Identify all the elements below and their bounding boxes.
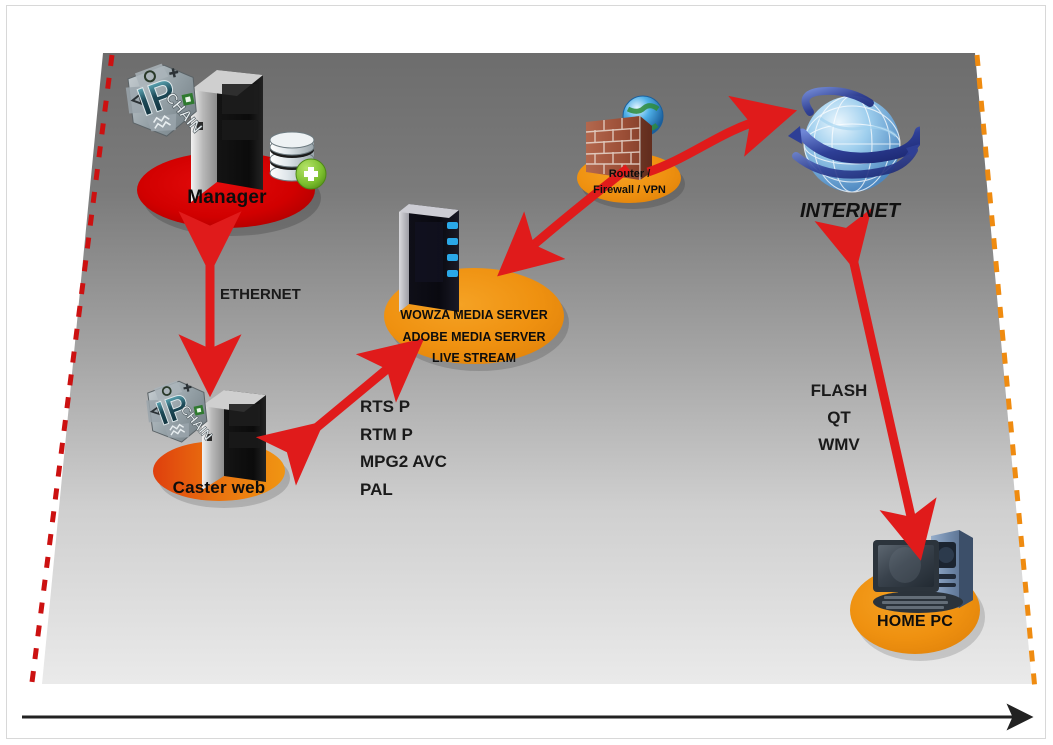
protocol-label-rtsp: RTS P	[360, 393, 447, 421]
format-label-flash: FLASH	[787, 377, 891, 404]
router-label: Router / Firewall / VPN	[577, 167, 682, 198]
router-label-line-2: Firewall / VPN	[577, 183, 682, 199]
connection-arrows-layer	[0, 0, 1053, 745]
protocol-label-mpg2avc: MPG2 AVC	[360, 448, 447, 476]
media-server-label-line-1: WOWZA MEDIA SERVER	[384, 305, 564, 327]
caster-web-label: Caster web	[153, 478, 285, 498]
home-pc-label: HOME PC	[845, 613, 985, 632]
internet-label: INTERNET	[770, 200, 930, 223]
media-server-label-line-3: LIVE STREAM	[384, 348, 564, 370]
router-label-line-1: Router /	[577, 167, 682, 183]
format-label-group: FLASH QT WMV	[787, 377, 891, 459]
format-label-wmv: WMV	[787, 431, 891, 458]
ethernet-label: ETHERNET	[220, 286, 301, 303]
arrow-router-to-internet	[648, 119, 764, 172]
diagram-canvas: IP CHAIN IP CHAIN	[0, 0, 1053, 745]
timeline-arrow	[0, 700, 1053, 745]
protocol-label-pal: PAL	[360, 476, 447, 504]
manager-label: Manager	[137, 187, 317, 209]
media-server-label-line-2: ADOBE MEDIA SERVER	[384, 327, 564, 349]
protocol-label-rtmp: RTM P	[360, 421, 447, 449]
media-server-label: WOWZA MEDIA SERVER ADOBE MEDIA SERVER LI…	[384, 305, 564, 370]
protocol-label-group: RTS P RTM P MPG2 AVC PAL	[360, 393, 447, 503]
format-label-qt: QT	[787, 404, 891, 431]
